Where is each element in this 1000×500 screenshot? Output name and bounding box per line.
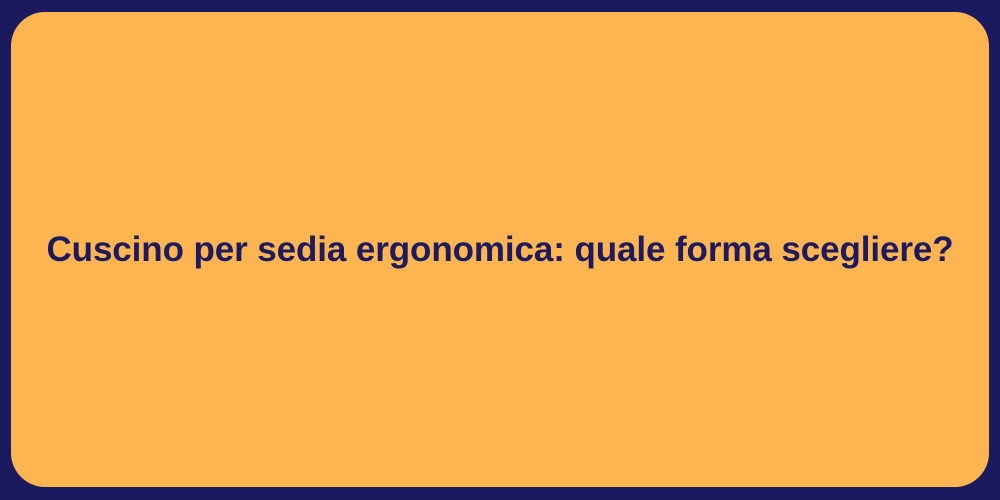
- banner-card: Cuscino per sedia ergonomica: quale form…: [11, 12, 989, 487]
- banner-headline: Cuscino per sedia ergonomica: quale form…: [46, 228, 953, 272]
- banner-outer-frame: Cuscino per sedia ergonomica: quale form…: [0, 0, 1000, 500]
